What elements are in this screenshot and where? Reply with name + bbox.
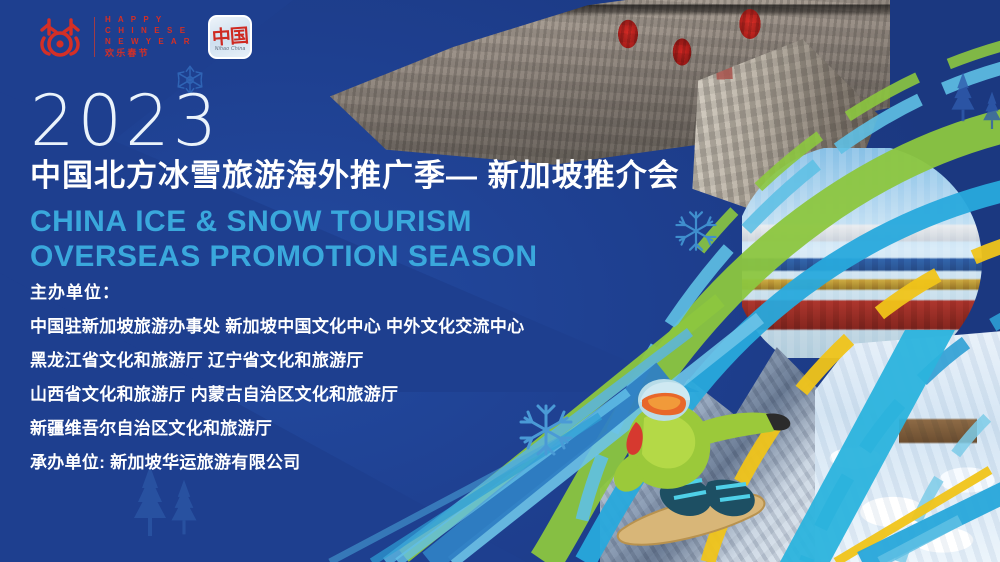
happy-chinese-new-year-logo: H A P P Y C H I N E S E N E W Y E A R 欢乐…: [36, 14, 192, 60]
organizer-line-2: 黑龙江省文化和旅游厅 辽宁省文化和旅游厅: [30, 352, 524, 369]
title-english-line2: OVERSEAS PROMOTION SEASON: [30, 240, 730, 275]
cny-en-line1: H A P P Y: [105, 15, 192, 25]
cny-en-line3: N E W Y E A R: [105, 37, 192, 47]
logo-divider: [94, 17, 95, 57]
host-line: 承办单位: 新加坡华运旅游有限公司: [30, 454, 524, 471]
logo-bar: H A P P Y C H I N E S E N E W Y E A R 欢乐…: [36, 14, 252, 60]
title-english-line1: CHINA ICE & SNOW TOURISM: [30, 205, 730, 240]
year-label: 2023: [30, 88, 730, 155]
cny-emblem-icon: [36, 14, 84, 60]
snow-village-photo: [815, 330, 1000, 562]
ccc-sub-text: Nihao China: [210, 46, 250, 52]
organizer-line-4: 新疆维吾尔自治区文化和旅游厅: [30, 420, 524, 437]
organizers-heading: 主办单位：: [30, 284, 524, 301]
organizer-line-3: 山西省文化和旅游厅 内蒙古自治区文化和旅游厅: [30, 386, 524, 403]
organizers-block: 主办单位： 中国驻新加坡旅游办事处 新加坡中国文化中心 中外文化交流中心 黑龙江…: [30, 284, 524, 488]
china-culture-center-logo: 中国 Nihao China: [208, 15, 252, 59]
poster-canvas: H A P P Y C H I N E S E N E W Y E A R 欢乐…: [0, 0, 1000, 562]
headline-block: 2023 中国北方冰雪旅游海外推广季— 新加坡推介会 CHINA ICE & S…: [30, 88, 730, 274]
ccc-seal-text: 中国: [212, 26, 249, 47]
cny-en-line2: C H I N E S E: [105, 26, 192, 36]
organizer-line-1: 中国驻新加坡旅游办事处 新加坡中国文化中心 中外文化交流中心: [30, 318, 524, 335]
cny-zh-label: 欢乐春节: [105, 48, 192, 59]
title-chinese: 中国北方冰雪旅游海外推广季— 新加坡推介会: [30, 157, 730, 196]
temple-pagoda-photo: [742, 148, 982, 358]
